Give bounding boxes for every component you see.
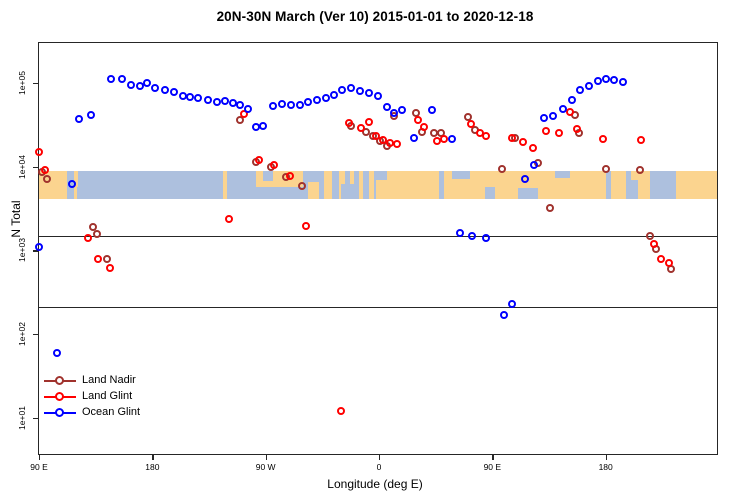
x-tick-label: 90 E (484, 462, 502, 472)
x-tick-mark (492, 454, 493, 460)
data-point-land-glint (566, 108, 574, 116)
x-tick-label: 180 (599, 462, 613, 472)
data-point-ocean-glint (75, 115, 83, 123)
data-point-ocean-glint (508, 300, 516, 308)
y-tick-label: 1e+01 (0, 400, 34, 436)
map-ocean-region (256, 187, 304, 200)
map-ocean-region (626, 180, 639, 200)
data-point-ocean-glint (296, 101, 304, 109)
map-ocean-region (650, 171, 669, 186)
separator-line (39, 236, 717, 237)
data-point-ocean-glint (365, 89, 373, 97)
data-point-land-glint (393, 140, 401, 148)
data-point-land-glint (84, 234, 92, 242)
data-point-land-glint (270, 161, 278, 169)
data-point-ocean-glint (521, 175, 529, 183)
data-point-land-glint (286, 172, 294, 180)
data-point-ocean-glint (398, 106, 406, 114)
world-map-strip (39, 171, 717, 199)
data-point-ocean-glint (278, 100, 286, 108)
data-point-ocean-glint (213, 98, 221, 106)
map-ocean-region (452, 171, 470, 179)
data-point-ocean-glint (374, 92, 382, 100)
y-tick-label: 1e+03 (0, 232, 34, 268)
data-point-land-nadir (546, 204, 554, 212)
data-point-land-glint (357, 124, 365, 132)
data-point-ocean-glint (448, 135, 456, 143)
data-point-land-glint (519, 138, 527, 146)
data-point-ocean-glint (53, 349, 61, 357)
data-point-land-glint (542, 127, 550, 135)
data-point-land-glint (482, 132, 490, 140)
data-point-ocean-glint (151, 84, 159, 92)
data-point-land-nadir (646, 232, 654, 240)
data-point-ocean-glint (127, 81, 135, 89)
data-point-land-glint (255, 156, 263, 164)
x-tick-label: 90 E (30, 462, 48, 472)
data-point-ocean-glint (482, 234, 490, 242)
legend-item-land-nadir[interactable]: Land Nadir (44, 372, 140, 388)
data-point-ocean-glint (356, 87, 364, 95)
legend-label: Land Glint (82, 390, 132, 402)
data-point-ocean-glint (500, 311, 508, 319)
x-tick-label: 90 W (256, 462, 276, 472)
data-point-land-glint (41, 166, 49, 174)
data-point-land-glint (225, 215, 233, 223)
map-land-region (223, 171, 227, 199)
data-point-land-nadir (103, 255, 111, 263)
map-ocean-region (263, 171, 273, 181)
y-tick-label: 1e+05 (0, 65, 34, 101)
y-tick-label: 1e+02 (0, 316, 34, 352)
map-ocean-region (485, 187, 495, 200)
data-point-land-glint (345, 119, 353, 127)
data-point-ocean-glint (576, 86, 584, 94)
data-point-land-glint (573, 125, 581, 133)
data-point-ocean-glint (585, 82, 593, 90)
legend-marker-icon (44, 391, 76, 401)
data-point-ocean-glint (68, 180, 76, 188)
data-point-land-glint (106, 264, 114, 272)
data-point-land-glint (420, 123, 428, 131)
legend: Land NadirLand GlintOcean Glint (44, 372, 140, 420)
x-tick-mark (379, 454, 380, 460)
map-ocean-region (77, 187, 87, 200)
x-tick-label: 180 (145, 462, 159, 472)
data-point-land-glint (529, 144, 537, 152)
map-ocean-region (555, 171, 570, 178)
legend-marker-icon (44, 375, 76, 385)
data-point-land-nadir (93, 230, 101, 238)
x-tick-mark (266, 454, 267, 460)
x-tick-label: 0 (377, 462, 382, 472)
data-point-land-glint (414, 116, 422, 124)
data-point-ocean-glint (330, 91, 338, 99)
map-land-region (324, 171, 333, 199)
data-point-land-glint (650, 240, 658, 248)
data-point-ocean-glint (118, 75, 126, 83)
data-point-ocean-glint (287, 101, 295, 109)
data-point-ocean-glint (540, 114, 548, 122)
data-point-land-nadir (636, 166, 644, 174)
data-point-ocean-glint (468, 232, 476, 240)
data-point-land-nadir (298, 182, 306, 190)
data-point-land-nadir (602, 165, 610, 173)
data-point-land-glint (302, 222, 310, 230)
data-point-ocean-glint (347, 84, 355, 92)
data-point-ocean-glint (619, 78, 627, 86)
data-point-ocean-glint (313, 96, 321, 104)
data-point-ocean-glint (383, 103, 391, 111)
data-point-land-nadir (498, 165, 506, 173)
x-tick-mark (606, 454, 607, 460)
map-ocean-region (518, 188, 538, 199)
data-point-ocean-glint (194, 94, 202, 102)
data-point-ocean-glint (35, 243, 43, 251)
legend-label: Ocean Glint (82, 406, 140, 418)
map-ocean-region (374, 171, 387, 179)
data-point-ocean-glint (428, 106, 436, 114)
plot-area: 1e+051e+041e+031e+021e+01 90 E18090 W090… (38, 42, 718, 455)
map-land-region (611, 171, 626, 199)
data-point-land-nadir (43, 175, 51, 183)
data-point-ocean-glint (107, 75, 115, 83)
data-point-land-glint (467, 120, 475, 128)
data-point-ocean-glint (269, 102, 277, 110)
data-point-ocean-glint (602, 75, 610, 83)
data-point-ocean-glint (338, 86, 346, 94)
data-point-land-glint (599, 135, 607, 143)
data-point-land-glint (665, 259, 673, 267)
data-point-ocean-glint (87, 111, 95, 119)
data-point-land-glint (555, 129, 563, 137)
data-point-land-glint (35, 148, 43, 156)
map-ocean-region (341, 184, 354, 199)
data-point-ocean-glint (161, 86, 169, 94)
data-point-land-glint (94, 255, 102, 263)
data-point-ocean-glint (559, 105, 567, 113)
data-point-ocean-glint (456, 229, 464, 237)
data-point-ocean-glint (204, 96, 212, 104)
data-point-ocean-glint (244, 105, 252, 113)
map-land-region (359, 171, 363, 199)
data-point-ocean-glint (549, 112, 557, 120)
x-tick-mark (152, 454, 153, 460)
data-point-ocean-glint (568, 96, 576, 104)
data-point-land-glint (365, 118, 373, 126)
chart-title: 20N-30N March (Ver 10) 2015-01-01 to 202… (0, 9, 750, 24)
data-point-land-glint (337, 407, 345, 415)
map-ocean-region (308, 171, 323, 182)
map-land-region (676, 171, 717, 199)
legend-item-ocean-glint[interactable]: Ocean Glint (44, 404, 140, 420)
data-point-ocean-glint (304, 98, 312, 106)
x-axis-label: Longitude (deg E) (0, 477, 750, 491)
legend-marker-icon (44, 407, 76, 417)
data-point-ocean-glint (530, 161, 538, 169)
data-point-ocean-glint (259, 122, 267, 130)
x-tick-mark (39, 454, 40, 460)
data-point-ocean-glint (410, 134, 418, 142)
y-tick-label: 1e+04 (0, 149, 34, 185)
data-point-land-glint (508, 134, 516, 142)
legend-item-land-glint[interactable]: Land Glint (44, 388, 140, 404)
chart-root: 20N-30N March (Ver 10) 2015-01-01 to 202… (0, 0, 750, 500)
data-point-ocean-glint (610, 76, 618, 84)
data-point-ocean-glint (170, 88, 178, 96)
separator-line (39, 307, 717, 308)
data-point-land-glint (637, 136, 645, 144)
legend-label: Land Nadir (82, 374, 136, 386)
